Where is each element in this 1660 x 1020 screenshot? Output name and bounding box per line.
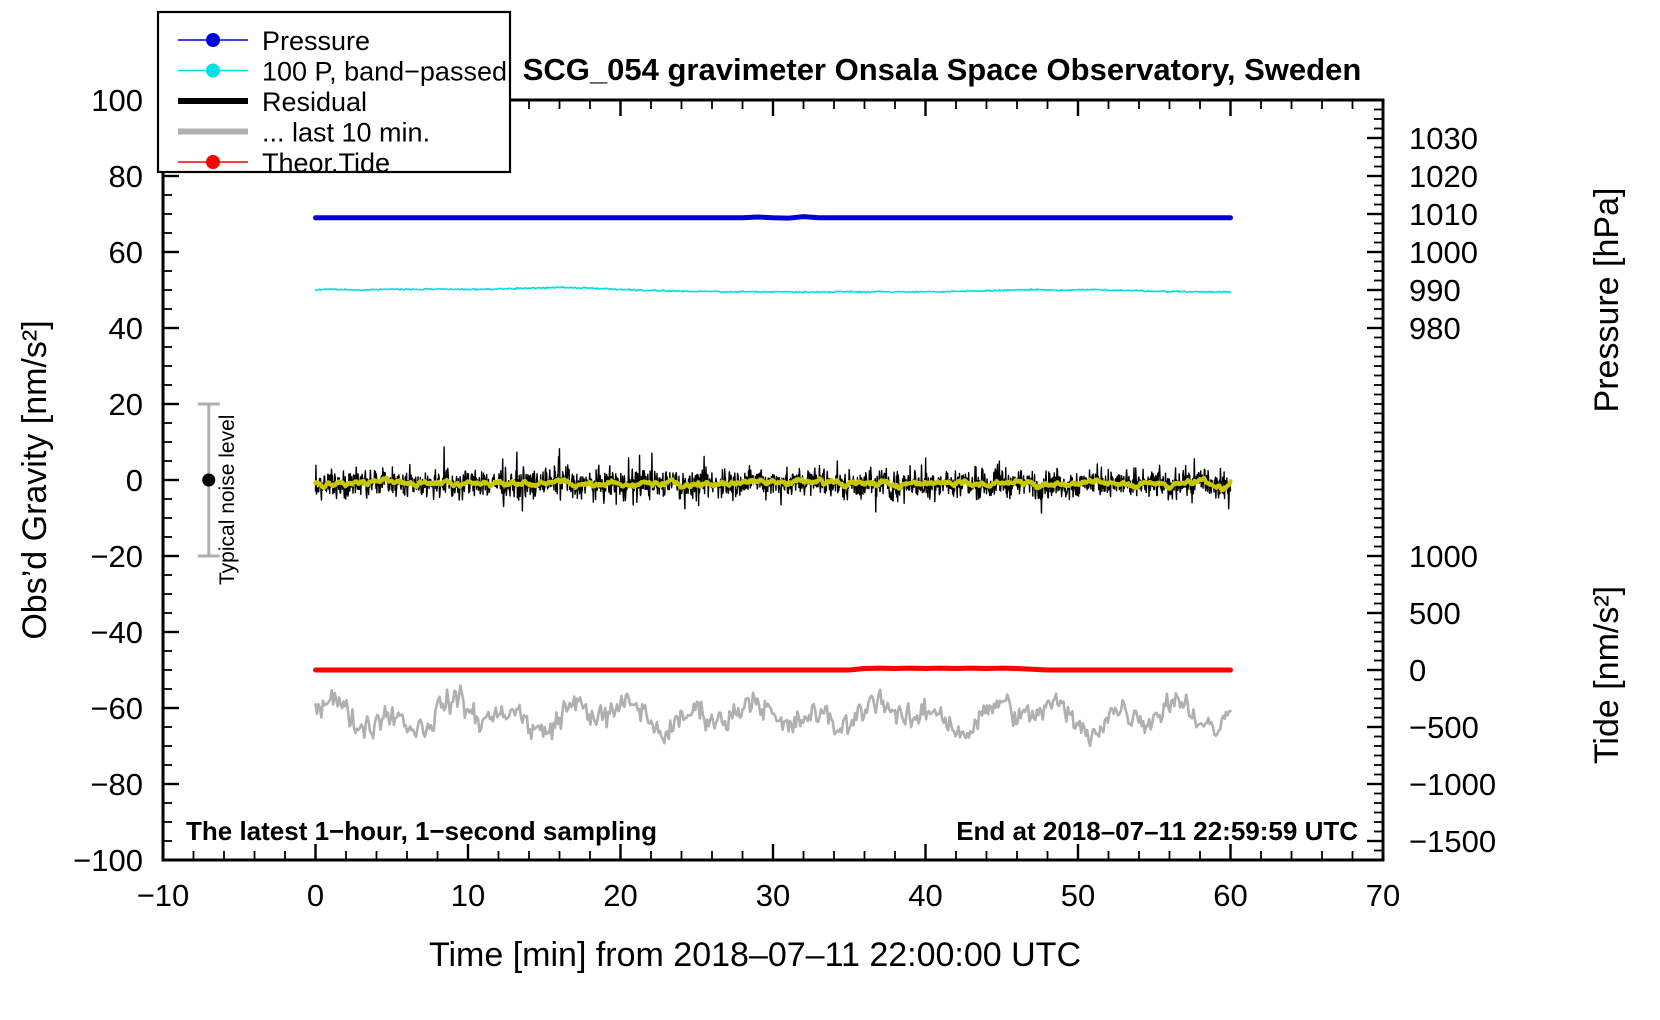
x-tick-label: 70 xyxy=(1366,878,1400,913)
y-right-pressure-tick-label: 1010 xyxy=(1409,197,1478,232)
legend-marker-0 xyxy=(206,33,220,47)
y-left-tick-label: 40 xyxy=(109,311,143,346)
y-left-tick-label: −40 xyxy=(90,615,143,650)
legend[interactable]: Pressure100 P, band−passedResidual... la… xyxy=(158,12,510,178)
y-right-tide-tick-label: −1000 xyxy=(1409,767,1496,802)
noise-center-dot xyxy=(202,474,215,487)
y-right-tide-tick-label: 1000 xyxy=(1409,539,1478,574)
y-right-tide-tick-label: −1500 xyxy=(1409,824,1496,859)
y-right-pressure-tick-label: 1000 xyxy=(1409,235,1478,270)
y-left-tick-label: 0 xyxy=(126,463,143,498)
y-left-tick-label: −60 xyxy=(90,691,143,726)
x-tick-label: 10 xyxy=(451,878,485,913)
y-right-pressure-tick-label: 1020 xyxy=(1409,159,1478,194)
y-right-pressure-tick-label: 990 xyxy=(1409,273,1461,308)
bottom-left-annotation: The latest 1−hour, 1−second sampling xyxy=(186,816,657,846)
y-left-axis-label: Obs’d Gravity [nm/s²] xyxy=(16,320,54,639)
x-tick-label: 60 xyxy=(1213,878,1247,913)
y-left-tick-label: −20 xyxy=(90,539,143,574)
legend-marker-4 xyxy=(206,155,220,169)
legend-label-4[interactable]: Theor.Tide xyxy=(262,148,390,178)
y-left-tick-label: 60 xyxy=(109,235,143,270)
x-tick-label: −10 xyxy=(137,878,190,913)
y-right-tide-tick-label: 0 xyxy=(1409,653,1426,688)
y-right-tide-tick-label: −500 xyxy=(1409,710,1479,745)
y-left-tick-label: −80 xyxy=(90,767,143,802)
y-left-tick-label: 20 xyxy=(109,387,143,422)
y-right-pressure-axis-label: Pressure [hPa] xyxy=(1588,188,1626,413)
y-right-pressure-tick-label: 980 xyxy=(1409,311,1461,346)
legend-label-0[interactable]: Pressure xyxy=(262,26,370,56)
legend-marker-1 xyxy=(206,64,220,78)
trace-theoretical-tide xyxy=(316,668,1231,670)
x-tick-label: 0 xyxy=(307,878,324,913)
y-left-tick-label: 80 xyxy=(109,159,143,194)
x-axis-label: Time [min] from 2018–07–11 22:00:00 UTC xyxy=(429,936,1081,974)
plot-svg: −10010203040506070 100806040200−20−40−60… xyxy=(0,0,1660,1020)
x-tick-label: 40 xyxy=(908,878,942,913)
trace-pressure xyxy=(316,217,1231,219)
x-tick-label: 20 xyxy=(603,878,637,913)
legend-label-3[interactable]: ... last 10 min. xyxy=(262,118,430,148)
legend-label-2[interactable]: Residual xyxy=(262,87,367,117)
y-left-tick-label: −100 xyxy=(73,843,143,878)
y-right-pressure-tick-label: 1030 xyxy=(1409,121,1478,156)
x-tick-label: 30 xyxy=(756,878,790,913)
gravimeter-plot-figure: −10010203040506070 100806040200−20−40−60… xyxy=(0,0,1660,1020)
y-right-tide-tick-label: 500 xyxy=(1409,596,1461,631)
legend-label-1[interactable]: 100 P, band−passed xyxy=(262,57,507,87)
bottom-right-annotation: End at 2018–07–11 22:59:59 UTC xyxy=(956,816,1358,846)
page-title: SCG_054 gravimeter Onsala Space Observat… xyxy=(523,52,1362,87)
typical-noise-level-label: Typical noise level xyxy=(216,415,239,585)
y-left-tick-label: 100 xyxy=(91,83,143,118)
y-right-tide-axis-label: Tide [nm/s²] xyxy=(1588,586,1626,764)
x-tick-label: 50 xyxy=(1061,878,1095,913)
